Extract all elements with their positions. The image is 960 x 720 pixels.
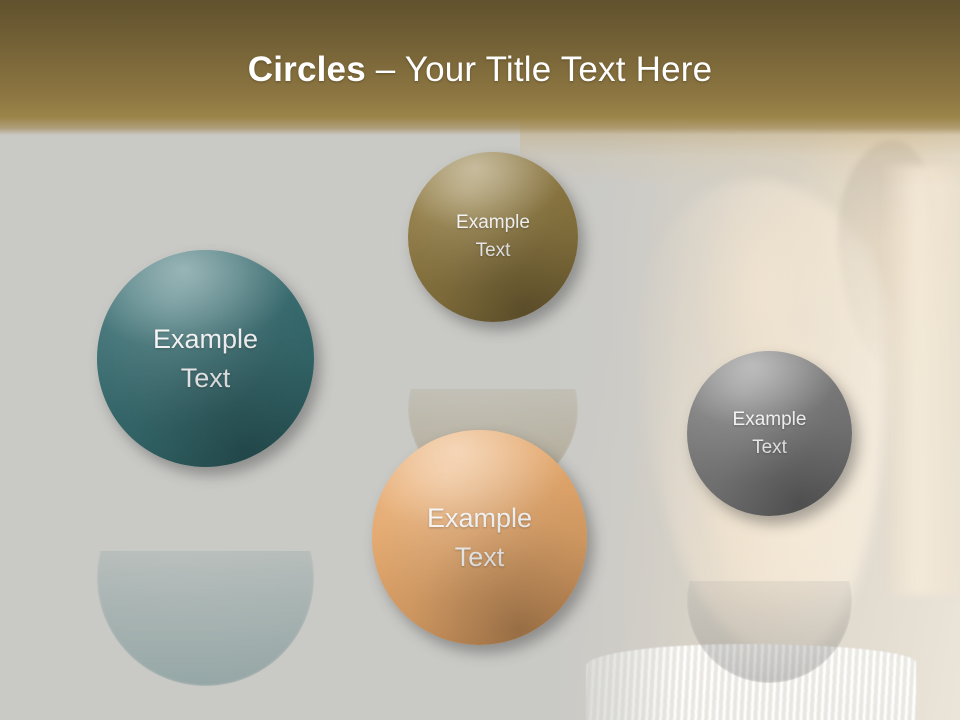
circle-node-olive[interactable]: Example Text: [408, 152, 578, 322]
circle-shape-teal[interactable]: Example Text: [97, 250, 314, 467]
slide-canvas: Circles – Your Title Text Here Example T…: [0, 0, 960, 720]
circle-label-line2: Text: [752, 434, 787, 462]
circle-label-line1: Example: [153, 320, 258, 359]
circle-node-orange[interactable]: Example Text: [372, 430, 587, 645]
circle-label-line2: Text: [476, 237, 511, 265]
page-title-bold: Circles: [248, 50, 366, 89]
photo-arm: [884, 165, 960, 595]
circle-shape-orange[interactable]: Example Text: [372, 430, 587, 645]
circle-label-line1: Example: [733, 406, 807, 434]
circle-label-line1: Example: [427, 499, 532, 538]
page-title-dash: –: [366, 50, 405, 89]
circle-label-line2: Text: [181, 359, 231, 398]
circle-shape-olive[interactable]: Example Text: [408, 152, 578, 322]
circle-node-teal[interactable]: Example Text: [97, 250, 314, 467]
circle-shape-gray[interactable]: Example Text: [687, 351, 852, 516]
page-title-rest: Your Title Text Here: [405, 50, 713, 89]
circle-label-line1: Example: [456, 209, 530, 237]
page-title: Circles – Your Title Text Here: [0, 49, 960, 90]
circle-node-gray[interactable]: Example Text: [687, 351, 852, 516]
circle-label-line2: Text: [455, 538, 505, 577]
